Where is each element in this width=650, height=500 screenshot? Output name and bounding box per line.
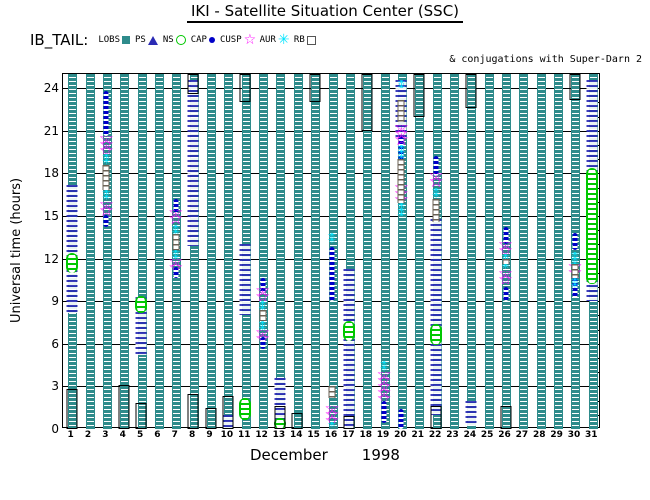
legend-item-label: CUSP xyxy=(220,35,242,45)
rb-span xyxy=(329,386,336,397)
x-tick-label: 17 xyxy=(342,430,355,440)
x-tick-label: 10 xyxy=(221,430,234,440)
cusp-span: ☆☆ xyxy=(496,242,515,255)
cusp-span: ☆☆☆ xyxy=(97,136,116,153)
lobs-span xyxy=(519,74,528,429)
legend-item-label: CAP xyxy=(191,35,207,45)
x-tick-label: 31 xyxy=(585,430,598,440)
x-tick-label: 11 xyxy=(238,430,251,440)
legend-item-aur: AUR✳ xyxy=(260,35,289,46)
legend-item-rb: RB xyxy=(294,35,316,45)
rb-box-span xyxy=(431,406,442,429)
legend-item-cusp: CUSP☆ xyxy=(220,35,255,46)
x-tick-label: 2 xyxy=(85,430,91,440)
cap-span xyxy=(572,233,577,250)
x-tick-label: 27 xyxy=(516,430,529,440)
y-tick-label: 15 xyxy=(44,209,59,223)
x-tick-label: 1 xyxy=(68,430,74,440)
ps-span xyxy=(344,269,355,429)
aur-span: ✳✳ xyxy=(169,250,182,259)
lobs-span xyxy=(224,74,233,429)
x-tick-label: 15 xyxy=(307,430,320,440)
x-axis-ticks: 1234567891011121314151617181920212223242… xyxy=(62,430,600,444)
rb-box-span xyxy=(188,74,199,94)
rb-box-span xyxy=(465,74,476,108)
cusp-span: ☆☆☆ xyxy=(323,406,342,423)
x-tick-label: 13 xyxy=(273,430,286,440)
y-tick-label: 9 xyxy=(51,294,59,308)
circle-outline-icon xyxy=(176,35,186,45)
x-tick-label: 7 xyxy=(172,430,178,440)
aur-span: ✳✳ xyxy=(430,188,443,199)
legend-item-label: LOBS xyxy=(98,35,120,45)
ns-span xyxy=(586,168,598,284)
y-tick-label: 0 xyxy=(51,422,59,436)
legend-item-label: NS xyxy=(163,35,174,45)
legend: IB_TAIL: LOBSPSNSCAPCUSP☆AUR✳RB xyxy=(30,30,630,50)
y-axis-label-text: Universal time (hours) xyxy=(10,178,25,323)
x-tick-label: 30 xyxy=(568,430,581,440)
aur-span: ✳ xyxy=(326,422,339,429)
rb-box-span xyxy=(292,413,303,429)
x-tick-label: 20 xyxy=(394,430,407,440)
lobs-span xyxy=(86,74,95,429)
rb-box-span xyxy=(188,394,199,430)
lobs-span xyxy=(294,74,303,429)
ns-span xyxy=(343,321,355,341)
x-tick-label: 23 xyxy=(446,430,459,440)
x-tick-label: 6 xyxy=(154,430,160,440)
rb-box-span xyxy=(136,403,147,429)
square-outline-icon xyxy=(307,36,316,45)
rb-box-span xyxy=(66,389,77,429)
x-axis-label: December1998 xyxy=(0,446,650,464)
aur-span: ✳✳✳ xyxy=(395,203,408,216)
x-tick-label: 4 xyxy=(120,430,126,440)
rb-box-span xyxy=(274,406,285,429)
cap-span xyxy=(330,247,335,301)
filled-circle-icon xyxy=(209,37,215,43)
filled-square-icon xyxy=(122,36,130,44)
lobs-span xyxy=(537,74,546,429)
cusp-span: ☆☆ xyxy=(97,202,116,216)
legend-item-lobs: LOBS xyxy=(98,35,130,45)
cap-span xyxy=(503,287,508,301)
y-tick-label: 6 xyxy=(51,337,59,351)
lobs-span xyxy=(155,74,164,429)
legend-item-label: AUR xyxy=(260,35,276,45)
rb-span xyxy=(502,259,509,265)
lobs-span xyxy=(138,74,147,429)
ps-span xyxy=(188,80,199,246)
x-tick-label: 8 xyxy=(189,430,195,440)
rb-box-span xyxy=(569,74,580,100)
rb-span xyxy=(398,100,405,123)
ps-span xyxy=(465,401,476,427)
cusp-span: ☆☆☆ xyxy=(392,125,411,145)
x-tick-label: 5 xyxy=(137,430,143,440)
rb-box-span xyxy=(309,74,320,102)
x-tick-label: 3 xyxy=(102,430,108,440)
x-tick-label: 22 xyxy=(429,430,442,440)
lobs-span xyxy=(311,74,320,429)
aur-span: ✳✳✳ xyxy=(568,252,581,265)
y-tick-label: 24 xyxy=(44,81,59,95)
x-tick-label: 14 xyxy=(290,430,303,440)
cap-span xyxy=(104,215,109,228)
rb-box-span xyxy=(361,74,372,131)
y-tick-label: 18 xyxy=(44,166,59,180)
x-tick-label: 16 xyxy=(325,430,338,440)
page-title-text: IKI - Satellite Situation Center (SSC) xyxy=(187,2,463,23)
cap-span xyxy=(104,91,109,136)
x-tick-label: 12 xyxy=(255,430,268,440)
x-tick-label: 28 xyxy=(533,430,546,440)
aur-span: ✳✳ xyxy=(326,233,339,244)
rb-box-span xyxy=(500,406,511,429)
rb-box-span xyxy=(222,396,233,429)
rb-box-span xyxy=(344,416,355,429)
x-tick-label: 24 xyxy=(464,430,477,440)
lobs-span xyxy=(120,74,129,429)
cusp-span: ☆☆ xyxy=(427,173,446,187)
x-tick-label: 29 xyxy=(550,430,563,440)
rb-box-span xyxy=(205,408,216,429)
cusp-span: ☆☆ xyxy=(166,259,185,270)
rb-span xyxy=(103,165,110,191)
ns-span xyxy=(239,398,251,421)
lobs-span xyxy=(207,74,216,429)
legend-item-ns: NS xyxy=(163,35,186,45)
rb-span xyxy=(172,234,179,250)
ns-span xyxy=(430,324,442,345)
x-axis-year: 1998 xyxy=(362,446,400,464)
y-tick-label: 12 xyxy=(44,252,59,266)
y-tick-label: 3 xyxy=(51,379,59,393)
legend-item-label: PS xyxy=(135,35,146,45)
aur-span: ✳✳ xyxy=(169,225,182,235)
y-axis-label: Universal time (hours) xyxy=(8,73,26,428)
lobs-span xyxy=(276,74,285,429)
cap-span xyxy=(382,401,387,424)
rb-box-span xyxy=(240,74,251,102)
asterisk-icon: ✳ xyxy=(278,35,289,46)
x-tick-label: 9 xyxy=(206,430,212,440)
legend-item-cap: CAP xyxy=(191,35,215,45)
aur-span: ✳✳✳ xyxy=(395,145,408,159)
cusp-span: ☆☆ xyxy=(253,330,272,341)
x-tick-label: 25 xyxy=(481,430,494,440)
legend-item-label: RB xyxy=(294,35,305,45)
legend-item-ps: PS xyxy=(135,35,158,45)
cap-span xyxy=(399,409,404,429)
rb-span xyxy=(259,310,266,321)
ps-span xyxy=(66,185,77,313)
aur-span: ✳✳ xyxy=(100,190,113,201)
ps-span xyxy=(431,219,442,415)
aur-span: ✳✳ xyxy=(395,80,408,89)
aur-span: ✳✳ xyxy=(256,321,269,330)
ps-span xyxy=(240,244,251,315)
aur-span: ✳✳ xyxy=(568,278,581,289)
y-tick-label: 21 xyxy=(44,124,59,138)
aur-span: ✳✳ xyxy=(100,154,113,165)
rb-span xyxy=(433,199,440,222)
star-outline-icon: ☆ xyxy=(244,35,255,46)
lobs-span xyxy=(259,74,268,429)
plot-area: 03691215182124 ☆☆☆☆☆☆☆☆☆☆☆☆☆☆☆☆☆☆☆☆☆☆☆☆☆… xyxy=(62,73,600,428)
aur-span: ✳✳ xyxy=(256,301,269,310)
x-tick-label: 19 xyxy=(377,430,390,440)
lobs-span xyxy=(485,74,494,429)
lobs-span xyxy=(450,74,459,429)
triangle-outline-icon xyxy=(148,36,158,45)
cusp-span: ☆☆ xyxy=(253,288,272,301)
aur-span: ✳✳ xyxy=(378,361,391,372)
legend-title: IB_TAIL: xyxy=(30,31,88,49)
rb-span xyxy=(571,264,578,278)
lobs-span xyxy=(415,74,424,429)
x-tick-label: 18 xyxy=(359,430,372,440)
ns-span xyxy=(66,253,78,273)
x-tick-label: 21 xyxy=(412,430,425,440)
x-tick-label: 26 xyxy=(498,430,511,440)
rb-span xyxy=(398,159,405,203)
cusp-span: ☆☆ xyxy=(496,271,515,284)
cusp-span: ☆☆ xyxy=(166,210,185,224)
ns-span xyxy=(135,296,147,313)
cusp-span: ☆☆☆☆☆ xyxy=(375,372,394,400)
legend-items: LOBSPSNSCAPCUSP☆AUR✳RB xyxy=(98,35,318,46)
x-axis-month: December xyxy=(250,446,328,464)
rb-box-span xyxy=(413,74,424,117)
page-title: IKI - Satellite Situation Center (SSC) xyxy=(0,2,650,23)
lobs-span xyxy=(554,74,563,429)
rb-box-span xyxy=(118,385,129,429)
lobs-span xyxy=(467,74,476,429)
subtitle: & conjugations with Super-Darn 2 xyxy=(449,54,642,65)
